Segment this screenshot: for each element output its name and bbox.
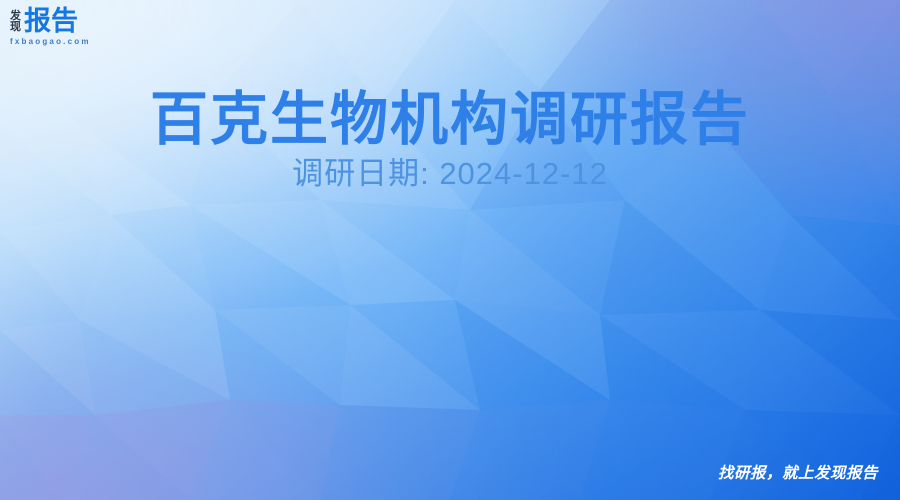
low-poly-background bbox=[0, 0, 900, 500]
logo-wordmark-row: 发 现 报告 bbox=[10, 8, 78, 35]
logo-stacked-characters: 发 现 bbox=[10, 10, 21, 33]
title-block: 百克生物机构调研报告 bbox=[0, 88, 900, 153]
logo-url: fxbaogao.com bbox=[10, 37, 91, 46]
survey-date-subtitle: 调研日期: 2024-12-12 bbox=[0, 148, 900, 193]
page-title: 百克生物机构调研报告 bbox=[0, 88, 900, 153]
logo-char-xian: 现 bbox=[10, 22, 21, 33]
footer-slogan: 找研报，就上发现报告 bbox=[718, 461, 878, 483]
logo-wordmark: 报告 bbox=[24, 8, 78, 35]
report-cover-slide: 发 现 报告 fxbaogao.com 百克生物机构调研报告 调研日期: 202… bbox=[0, 0, 900, 500]
brand-logo[interactable]: 发 现 报告 fxbaogao.com bbox=[10, 8, 91, 46]
